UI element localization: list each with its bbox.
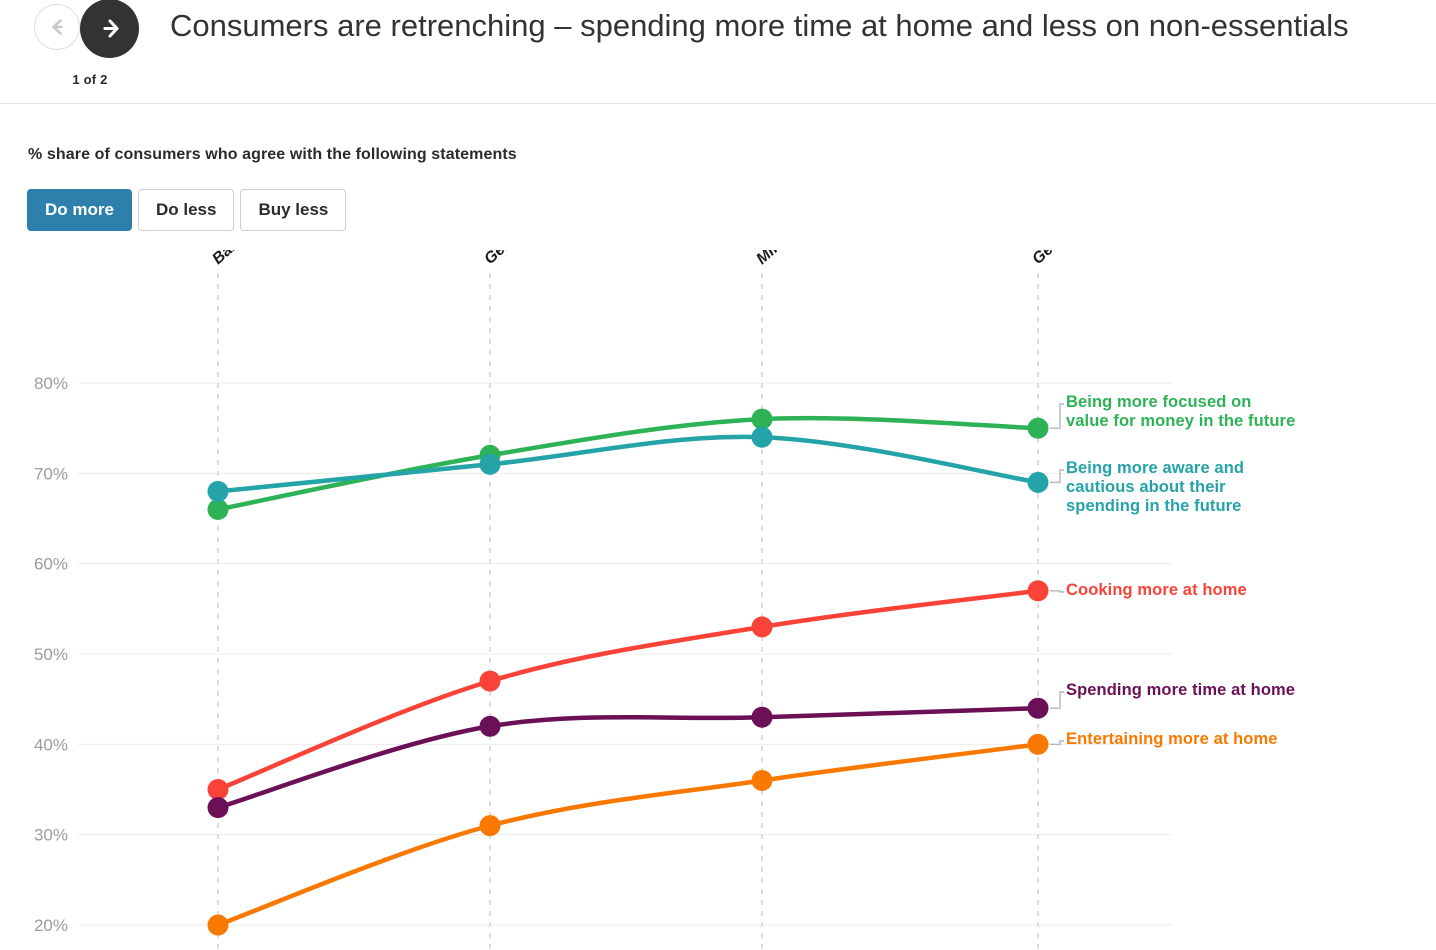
line-chart: 20%30%40%50%60%70%80% Baby BoomersGen XM… [0, 250, 1436, 950]
arrow-right-icon [96, 15, 123, 42]
legend-label[interactable]: Being more focused on value for money in… [1066, 393, 1298, 431]
legend-label[interactable]: Spending more time at home [1066, 681, 1298, 700]
legend-leader-line [1050, 404, 1064, 428]
y-axis-tick-labels: 20%30%40%50%60%70%80% [34, 374, 68, 935]
y-axis-tick-label: 50% [34, 645, 68, 664]
data-point[interactable] [1028, 734, 1049, 755]
tab-buy-less[interactable]: Buy less [240, 189, 346, 231]
legend-label[interactable]: Cooking more at home [1066, 581, 1298, 600]
data-point[interactable] [480, 671, 501, 692]
vertical-gridlines [218, 273, 1038, 950]
x-axis-tick-label: Gen Z [1029, 250, 1075, 268]
data-point[interactable] [208, 779, 229, 800]
y-axis-tick-label: 20% [34, 916, 68, 935]
chart-subtitle: % share of consumers who agree with the … [28, 146, 517, 164]
data-point[interactable] [752, 707, 773, 728]
x-axis-tick-label: Gen X [481, 250, 528, 268]
data-point[interactable] [1028, 418, 1049, 439]
data-point[interactable] [480, 815, 501, 836]
data-point[interactable] [208, 797, 229, 818]
slide-navigation: 1 of 2 [28, 2, 148, 98]
y-axis-tick-label: 30% [34, 826, 68, 845]
previous-slide-button[interactable] [34, 4, 80, 50]
data-point[interactable] [1028, 472, 1049, 493]
data-point[interactable] [1028, 698, 1049, 719]
data-point[interactable] [752, 427, 773, 448]
legend-label[interactable]: Entertaining more at home [1066, 730, 1298, 749]
page-title: Consumers are retrenching – spending mor… [170, 4, 1432, 48]
y-axis-tick-label: 40% [34, 735, 68, 754]
legend-leader-line [1050, 591, 1064, 592]
data-point[interactable] [480, 454, 501, 475]
data-point[interactable] [208, 499, 229, 520]
x-axis-tick-label: Millennials [753, 250, 825, 268]
legend-leader-line [1050, 470, 1064, 482]
page-indicator: 1 of 2 [28, 72, 152, 87]
tab-bar: Do more Do less Buy less [27, 189, 346, 231]
y-axis-tick-label: 70% [34, 464, 68, 483]
data-point[interactable] [752, 409, 773, 430]
arrow-left-icon [46, 16, 68, 38]
y-axis-tick-label: 60% [34, 555, 68, 574]
next-slide-button[interactable] [80, 0, 139, 58]
data-point[interactable] [480, 716, 501, 737]
data-point[interactable] [752, 770, 773, 791]
data-point[interactable] [208, 915, 229, 936]
series-lines [218, 418, 1038, 925]
chart-canvas: 20%30%40%50%60%70%80% Baby BoomersGen XM… [0, 250, 1436, 950]
legend-label[interactable]: Being more aware and cautious about thei… [1066, 459, 1298, 516]
tab-do-more[interactable]: Do more [27, 189, 132, 231]
data-point[interactable] [208, 481, 229, 502]
series-line [218, 418, 1038, 509]
x-axis-tick-labels: Baby BoomersGen XMillennialsGen Z [209, 250, 1075, 268]
page-header: 1 of 2 Consumers are retrenching – spend… [0, 0, 1436, 104]
tab-do-less[interactable]: Do less [138, 189, 234, 231]
data-point[interactable] [1028, 580, 1049, 601]
horizontal-gridlines [78, 383, 1172, 925]
legend-leader-line [1050, 692, 1064, 708]
legend-leader-lines [1050, 404, 1064, 744]
x-axis-tick-label: Baby Boomers [209, 250, 304, 268]
y-axis-tick-label: 80% [34, 374, 68, 393]
data-point[interactable] [752, 616, 773, 637]
